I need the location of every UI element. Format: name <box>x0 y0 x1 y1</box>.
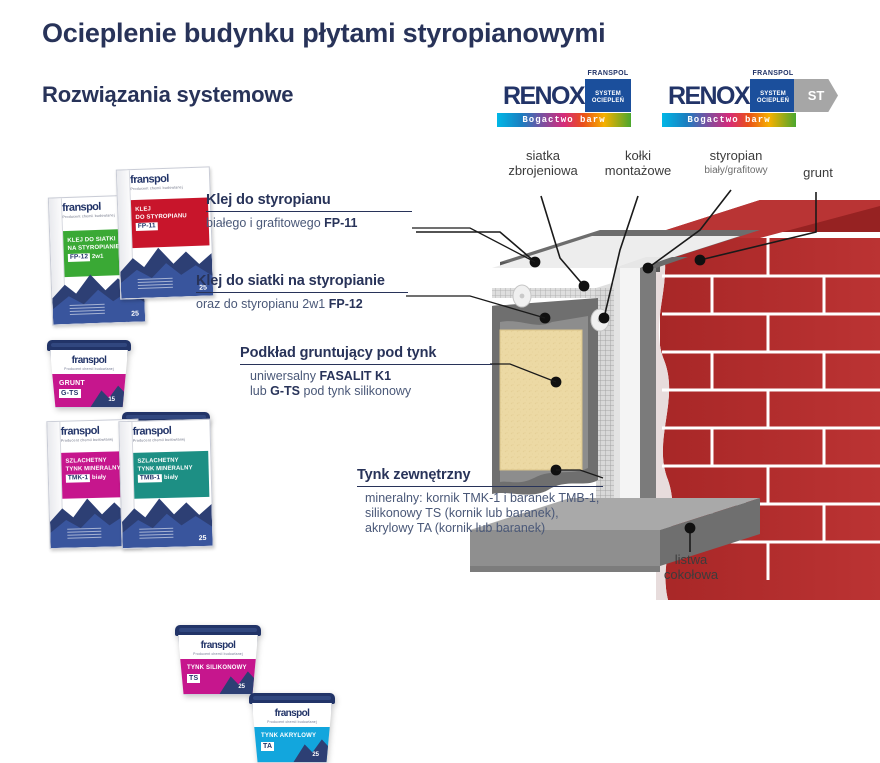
bag-fp12-weight: 25 <box>131 311 139 318</box>
bag-fp12-code: FP-12 <box>68 253 90 261</box>
page-title: Ocieplenie budynku płytami styropianowym… <box>42 18 605 49</box>
callout-tynk-zewnetrzny: Tynk zewnętrzny mineralny: kornik TMK-1 … <box>357 467 603 536</box>
label-kolki-montazowe: kołki montażowe <box>592 148 684 178</box>
label-styropian-line1: styropian <box>688 148 784 163</box>
bucket-grunt-gts-code: G-TS <box>59 389 81 398</box>
bag-tmb1-tagline: Producent chemii budowlanej <box>133 437 208 443</box>
bag-tmb1-brand: franspol Producent chemii budowlanej <box>132 424 207 441</box>
callout-tynk-line1: mineralny: kornik TMK-1 i baranek TMB-1, <box>357 491 603 506</box>
renox-logo: FRANSPOL RENOX SYSTEM OCIEPLEŃ Bogactwo … <box>497 79 631 127</box>
bucket-tynk-akrylowy-color-band: TYNK AKRYLOWY TA 25 <box>253 727 331 762</box>
dot-klej-styropian <box>530 257 541 268</box>
label-kolki-line1: kołki <box>592 148 684 163</box>
bag-tmb1-brand-text: franspol <box>132 424 207 438</box>
renox-st-logo-rainbow-bar: Bogactwo barw <box>662 113 796 127</box>
infographic-canvas: Ocieplenie budynku płytami styropianowym… <box>0 0 880 600</box>
renox-logo-badge-line2: OCIEPLEŃ <box>585 98 631 105</box>
bucket-tynk-silikonowy-brand-text: franspol <box>179 640 257 651</box>
renox-st-logo-badge-line2: OCIEPLEŃ <box>750 98 796 105</box>
bucket-grunt-gts-lid <box>47 340 131 351</box>
renox-logo-franspol-text: FRANSPOL <box>585 70 631 77</box>
bag-tmk1-detail-lines <box>67 528 101 541</box>
bucket-tynk-silikonowy-name-line1: TYNK SILIKONOWY <box>187 665 247 671</box>
callout-klej-siatki-sub-plain: oraz do styropianu 2w1 <box>196 297 329 311</box>
wall-top-layers <box>492 230 760 276</box>
label-grunt: grunt <box>788 165 848 180</box>
renox-st-logo-franspol-text: FRANSPOL <box>750 70 796 77</box>
bucket-grunt-gts-mountain-graphic <box>87 383 128 407</box>
callout-podklad-line1-plain: uniwersalny <box>250 369 319 383</box>
bucket-grunt-gts-color-band: GRUNT G-TS 15 <box>51 374 127 407</box>
renox-logo-rainbow-bar: Bogactwo barw <box>497 113 631 127</box>
bucket-grunt-gts-weight: 15 <box>108 397 115 403</box>
callout-klej-do-styropianu: Klej do styropianu białego i grafitowego… <box>206 192 412 231</box>
callout-podklad-gruntujacy: Podkład gruntujący pod tynk uniwersalny … <box>240 345 492 399</box>
bucket-tynk-silikonowy-color-band: TYNK SILIKONOWY TS 25 <box>179 659 257 694</box>
callout-podklad-line2-plain-a: lub <box>250 384 270 398</box>
renox-st-logo-wordmark: RENOX <box>662 79 749 112</box>
callout-podklad-line1-bold: FASALIT K1 <box>319 369 391 383</box>
dot-listwa <box>685 523 696 534</box>
dot-podklad <box>551 377 562 388</box>
callout-klej-siatki-rule <box>196 292 408 293</box>
bag-fp11-code: FP-11 <box>136 222 158 230</box>
label-siatka-line2: zbrojeniowa <box>497 163 589 178</box>
bucket-tynk-akrylowy-weight: 25 <box>312 752 319 758</box>
bag-fp11-product-name: KLEJ DO STYROPIANU FP-11 <box>135 205 207 232</box>
bucket-grunt-gts-name: GRUNT G-TS <box>59 379 85 398</box>
label-kolki-line2: montażowe <box>592 163 684 178</box>
product-bucket-tynk-akrylowy: franspol Producent chemii budowlanej TYN… <box>252 693 332 763</box>
bucket-tynk-silikonowy-lid <box>175 625 261 636</box>
label-siatka-zbrojeniowa: siatka zbrojeniowa <box>497 148 589 178</box>
bag-tmb1-code: TMB-1 <box>138 474 163 482</box>
label-listwa-line2: cokołowa <box>645 567 737 582</box>
callout-klej-siatki-sub-bold: FP-12 <box>329 297 363 311</box>
callout-klej-styropianu-rule <box>206 211 412 212</box>
callout-klej-styropianu-sub-bold: FP-11 <box>324 216 357 230</box>
bag-tmb1-product-name: SZLACHETNY TYNK MINERALNY TMB-1 biały <box>137 457 207 483</box>
renox-st-logo: FRANSPOL RENOX SYSTEM OCIEPLEŃ ST Bogact… <box>662 79 796 127</box>
callout-klej-do-siatki: Klej do siatki na styropianie oraz do st… <box>196 273 408 312</box>
bag-fp12-detail-lines <box>70 304 105 317</box>
dot-siatka <box>579 281 590 292</box>
renox-st-logo-tagline: Bogactwo barw <box>662 113 796 127</box>
bag-tmb1-name-line2: TYNK MINERALNY <box>138 464 207 473</box>
bucket-tynk-akrylowy-lid <box>249 693 335 704</box>
dot-kolki <box>599 313 610 324</box>
bag-tmk1-code: TMK-1 <box>66 474 91 482</box>
page-subtitle: Rozwiązania systemowe <box>42 82 293 108</box>
renox-logo-wordmark: RENOX <box>497 79 584 112</box>
bucket-tynk-silikonowy-code: TS <box>187 674 200 683</box>
bucket-tynk-silikonowy-body: franspol Producent chemii budowlanej TYN… <box>178 635 258 695</box>
mounting-dowels <box>513 285 609 331</box>
bag-tmb1-weight: 25 <box>199 535 207 542</box>
dot-grunt <box>695 255 706 266</box>
callout-klej-styropianu-sub: białego i grafitowego FP-11 <box>206 216 412 231</box>
brick-wall <box>640 200 880 600</box>
label-siatka-line1: siatka <box>497 148 589 163</box>
label-grunt-line1: grunt <box>788 165 848 180</box>
bucket-tynk-akrylowy-tagline: Producent chemii budowlanej <box>253 720 331 724</box>
bag-fp11-detail-lines <box>138 278 173 291</box>
renox-logo-badge-line1: SYSTEM <box>585 91 631 98</box>
bucket-tynk-silikonowy-name: TYNK SILIKONOWY TS <box>187 664 247 684</box>
bag-tmk1-variant: biały <box>92 475 106 481</box>
product-bucket-grunt-gts: franspol Producent chemii budowlanej GRU… <box>50 340 128 408</box>
callout-podklad-line2: lub G-TS pod tynk silikonowy <box>240 384 492 399</box>
bucket-tynk-akrylowy-body: franspol Producent chemii budowlanej TYN… <box>252 703 332 763</box>
dot-styropian <box>643 263 654 274</box>
callout-klej-siatki-sub: oraz do styropianu 2w1 FP-12 <box>196 297 408 312</box>
bucket-grunt-gts-brand-text: franspol <box>51 355 127 366</box>
bag-tmb1-detail-lines <box>139 528 173 541</box>
callout-tynk-title: Tynk zewnętrzny <box>357 467 603 483</box>
bag-fp11-brand: franspol Producent chemii budowlanej <box>130 171 207 189</box>
dot-klej-siatka <box>540 313 551 324</box>
label-styropian-note: biały/grafitowy <box>688 163 784 178</box>
bucket-tynk-silikonowy-tagline: Producent chemii budowlanej <box>179 652 257 656</box>
bucket-grunt-gts-name-line1: GRUNT <box>59 380 85 387</box>
callout-tynk-line3: akrylowy TA (kornik lub baranek) <box>357 521 603 536</box>
label-listwa-cokolowa: listwa cokołowa <box>645 552 737 582</box>
callout-podklad-line2-plain-b: pod tynk silikonowy <box>300 384 411 398</box>
bucket-grunt-gts-body: franspol Producent chemii budowlanej GRU… <box>50 350 128 408</box>
bucket-grunt-gts-tagline: Producent chemii budowlanej <box>51 367 127 371</box>
callout-tynk-rule <box>357 486 603 487</box>
renox-st-logo-badge-line1: SYSTEM <box>750 91 796 98</box>
label-styropian: styropian biały/grafitowy <box>688 148 784 178</box>
bag-fp12-variant: 2w1 <box>92 254 104 260</box>
callout-klej-styropianu-title: Klej do styropianu <box>206 192 412 208</box>
bucket-tynk-akrylowy-code: TA <box>261 742 274 751</box>
renox-logo-badge: SYSTEM OCIEPLEŃ <box>585 79 631 112</box>
renox-st-logo-badge: SYSTEM OCIEPLEŃ <box>750 79 796 112</box>
product-bag-tmb1: franspol Producent chemii budowlanej SZL… <box>118 419 211 547</box>
renox-st-logo-st-flag: ST <box>794 79 838 112</box>
bucket-tynk-akrylowy-name-line1: TYNK AKRYLOWY <box>261 733 316 739</box>
renox-logo-tagline: Bogactwo barw <box>497 113 631 127</box>
callout-podklad-rule <box>240 364 492 365</box>
callout-podklad-line1: uniwersalny FASALIT K1 <box>240 369 492 384</box>
callout-klej-siatki-title: Klej do siatki na styropianie <box>196 273 408 289</box>
bucket-tynk-akrylowy-brand-text: franspol <box>253 708 331 719</box>
callout-podklad-title: Podkład gruntujący pod tynk <box>240 345 492 361</box>
bucket-tynk-silikonowy-weight: 25 <box>238 684 245 690</box>
callout-podklad-line2-bold: G-TS <box>270 384 300 398</box>
callout-tynk-line2: silikonowy TS (kornik lub baranek), <box>357 506 603 521</box>
callout-klej-styropianu-sub-plain: białego i grafitowego <box>206 216 324 230</box>
label-listwa-line1: listwa <box>645 552 737 567</box>
product-bucket-tynk-silikonowy: franspol Producent chemii budowlanej TYN… <box>178 625 258 695</box>
bag-tmb1-variant: biały <box>164 475 178 481</box>
